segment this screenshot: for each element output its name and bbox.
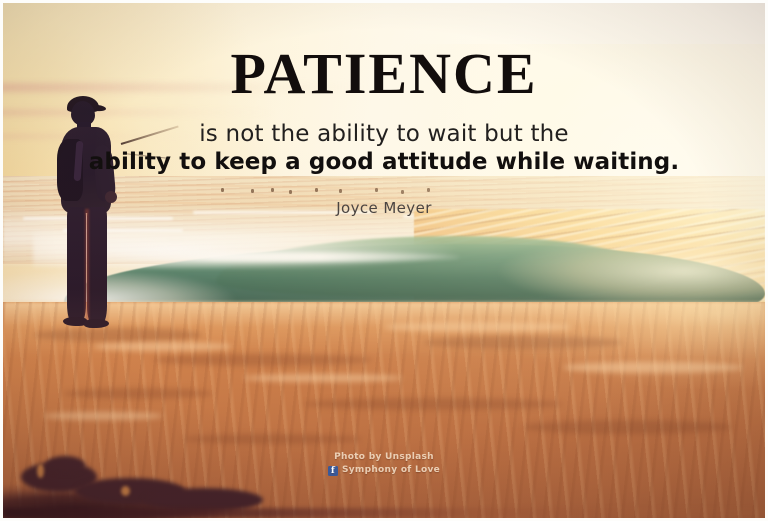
- sand-highlight: [383, 322, 573, 332]
- distant-surfer: [271, 188, 274, 192]
- kelp-highlight: [121, 486, 130, 496]
- cloud-band: [3, 109, 277, 116]
- distant-surfer: [401, 190, 404, 194]
- sand-highlight: [43, 412, 163, 420]
- distant-surfer: [427, 188, 430, 192]
- hand: [105, 191, 117, 203]
- right-leg: [87, 207, 107, 325]
- distant-surfer: [339, 189, 342, 193]
- watermark: Photo by Unsplash f Symphony of Love: [3, 451, 765, 478]
- photo-credit: Photo by Unsplash: [3, 451, 765, 464]
- distant-surfer: [375, 188, 378, 192]
- shoreline-debris-strip: [3, 508, 765, 518]
- sand-ridge: [423, 336, 623, 349]
- distant-surfer: [221, 188, 224, 192]
- sand-ridge: [63, 388, 213, 399]
- distant-surfer: [315, 188, 318, 192]
- trouser-seam: [85, 209, 89, 321]
- sand-ridge: [183, 434, 363, 444]
- quote-poster: PATIENCE is not the ability to wait but …: [0, 0, 768, 521]
- distant-surfer: [289, 190, 292, 194]
- sand-ridge: [523, 420, 733, 434]
- background-photograph: [3, 3, 765, 518]
- facebook-icon: f: [328, 466, 338, 476]
- sand-highlight: [93, 342, 233, 351]
- sand-foreground: [3, 302, 765, 518]
- sand-ridge: [303, 398, 563, 410]
- left-leg: [67, 207, 86, 323]
- sand-highlight: [243, 374, 403, 382]
- sand-ridge: [153, 354, 373, 366]
- right-foot: [84, 319, 109, 328]
- social-credit: f Symphony of Love: [328, 464, 440, 477]
- sand-highlight: [563, 362, 743, 373]
- fisherman-silhouette: [51, 91, 133, 327]
- social-account-name: Symphony of Love: [342, 464, 440, 477]
- sand-ridge: [33, 328, 203, 342]
- distant-surfer: [251, 189, 254, 193]
